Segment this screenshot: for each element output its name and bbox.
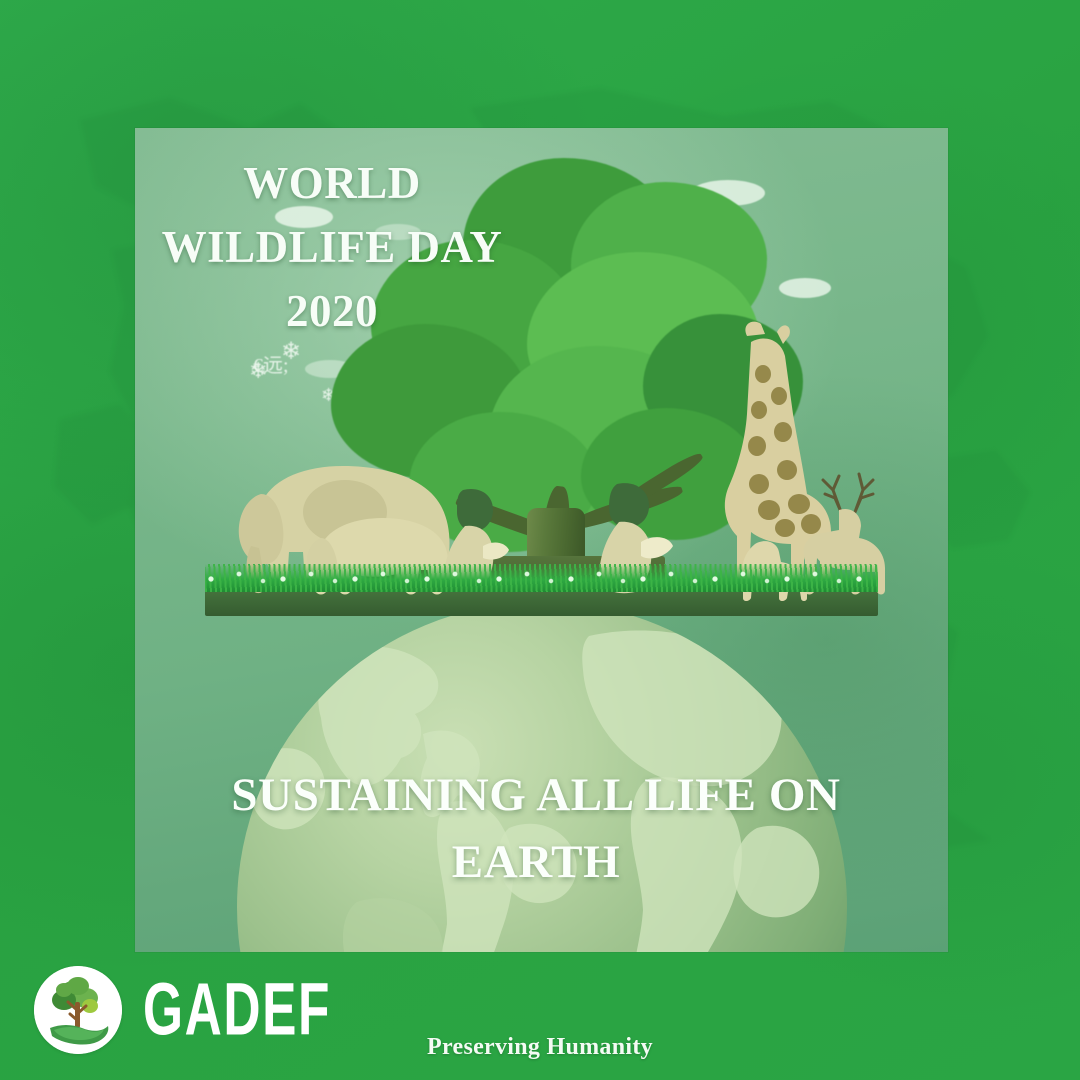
- poster-tagline: SUSTAINING ALL LIFE ON EARTH: [186, 762, 886, 895]
- page-title: WORLD WILDLIFE DAY 2020: [152, 152, 512, 344]
- headline-line-2: WILDLIFE DAY: [152, 216, 512, 280]
- headline-line-1: WORLD: [152, 152, 512, 216]
- butterfly-icon: ❄: [249, 360, 267, 382]
- footer-bar: GADEF Preserving Humanity: [0, 952, 1080, 1080]
- poster-canvas: €远; ❄ ❄ ❄: [0, 0, 1080, 1080]
- artwork-panel: €远; ❄ ❄ ❄: [135, 128, 948, 952]
- headline-line-3: 2020: [152, 280, 512, 344]
- tagline-line-1: SUSTAINING ALL LIFE ON: [186, 762, 886, 829]
- grass-flowers: [205, 568, 878, 590]
- tagline-line-2: EARTH: [186, 829, 886, 896]
- brand-tagline: Preserving Humanity: [0, 1034, 1080, 1061]
- cloud-icon: [779, 278, 831, 298]
